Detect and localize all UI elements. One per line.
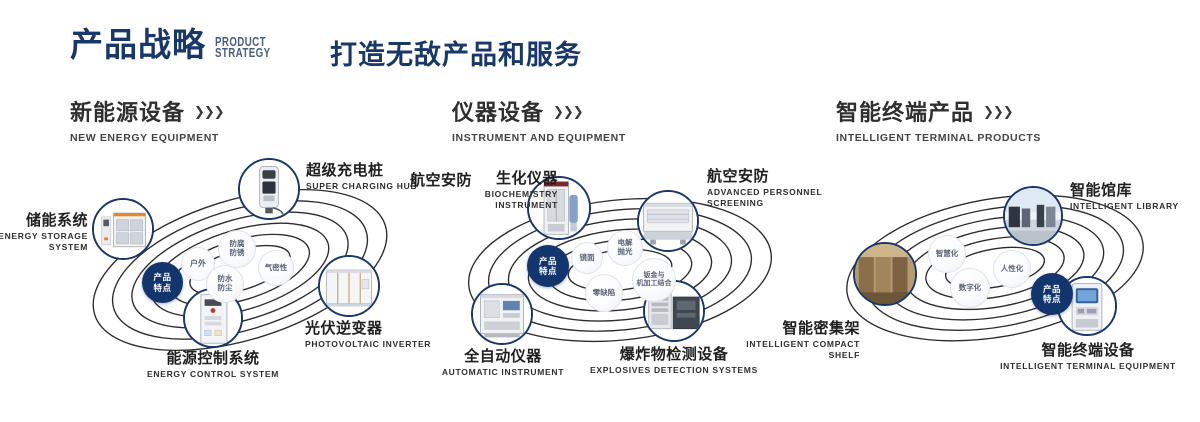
page-title-cn: 产品战略 [70, 28, 206, 61]
intelligent-library-photo [1005, 188, 1061, 244]
product-features-badge: 产品 特点 [142, 262, 183, 303]
node-label-cn: 光伏逆变器 [305, 320, 445, 337]
node-label-intelligent-compact-shelf: 智能密集架 INTELLIGENT COMPACT SHELF [740, 320, 860, 361]
product-features-badge: 产品 特点 [527, 245, 569, 287]
section-header-intelligent-terminal: 智能终端产品 ❯❯❯ INTELLIGENT TERMINAL PRODUCTS [836, 95, 1041, 144]
section-title-cn: 仪器设备 [452, 95, 544, 127]
node-label-en: ENERGY STORAGE SYSTEM [0, 231, 88, 252]
node-photovoltaic-inverter[interactable] [318, 255, 380, 317]
cluster-intelligent-terminal-products: 智能馆库 INTELLIGENT LIBRARY 智能终端设备 INTELLIG… [810, 150, 1180, 380]
node-label-en: BIOCHEMISTRY INSTRUMENT [393, 189, 558, 210]
node-intelligent-compact-shelf[interactable] [853, 242, 917, 306]
node-label-en: AUTOMATIC INSTRUMENT [413, 367, 593, 378]
node-advanced-personnel-screening[interactable] [637, 190, 699, 252]
energy-storage-cabinet-photo [94, 200, 152, 258]
feature-bubble-label: 防腐 防锈 [230, 240, 245, 257]
automatic-instrument-photo [473, 285, 531, 343]
feature-bubble-label: 气密性 [265, 264, 288, 273]
feature-bubble-label: 智慧化 [936, 250, 959, 259]
node-label-aviation-security-secondary: 航空安防 [410, 172, 480, 189]
node-label-energy-storage-system: 储能系统 ENERGY STORAGE SYSTEM [0, 212, 88, 253]
feature-bubble-label: 户外 [190, 259, 206, 268]
node-label-automatic-instrument: 全自动仪器 AUTOMATIC INSTRUMENT [413, 348, 593, 378]
node-label-intelligent-terminal-equipment: 智能终端设备 INTELLIGENT TERMINAL EQUIPMENT [998, 342, 1178, 372]
node-label-cn: 储能系统 [0, 212, 88, 229]
node-energy-storage-system[interactable] [92, 198, 154, 260]
feature-bubble: 防水 防尘 [206, 265, 244, 303]
node-label-en: INTELLIGENT LIBRARY [1070, 201, 1200, 212]
feature-bubble-label: 防水 防尘 [218, 275, 233, 292]
node-label-photovoltaic-inverter: 光伏逆变器 PHOTOVOLTAIC INVERTER [305, 320, 445, 350]
feature-bubble: 数字化 [950, 268, 990, 308]
charging-pile-photo [240, 160, 298, 218]
section-header-new-energy: 新能源设备 ❯❯❯ NEW ENERGY EQUIPMENT [70, 95, 224, 144]
node-label-cn: 智能密集架 [740, 320, 860, 337]
section-title-cn: 新能源设备 [70, 95, 185, 127]
node-label-cn: 能源控制系统 [83, 350, 343, 367]
feature-bubble-label: 电解 抛光 [618, 239, 633, 256]
feature-bubble: 防腐 防锈 [218, 230, 256, 268]
chevron-right-icon: ❯❯❯ [553, 105, 583, 118]
page-title: 产品战略 PRODUCT STRATEGY [70, 28, 286, 61]
node-label-en: INTELLIGENT TERMINAL EQUIPMENT [998, 361, 1178, 372]
feature-bubble: 电解 抛光 [607, 230, 643, 266]
feature-bubble-label: 人性化 [1001, 265, 1024, 274]
product-features-badge-label: 产品 特点 [539, 256, 557, 276]
product-features-badge-label: 产品 特点 [1043, 284, 1061, 304]
feature-bubble: 钣金与 机加工结合 [632, 258, 676, 302]
feature-bubble: 镜面 [571, 242, 603, 274]
node-automatic-instrument[interactable] [471, 283, 533, 345]
feature-bubble-label: 数字化 [959, 284, 982, 293]
product-features-badge-label: 产品 特点 [153, 272, 171, 292]
feature-bubble: 零缺陷 [585, 274, 623, 312]
cluster-new-energy-equipment: 储能系统 ENERGY STORAGE SYSTEM 超级充电桩 SUPER C… [55, 150, 425, 380]
feature-bubble: 智慧化 [928, 235, 966, 273]
node-label-cn: 智能馆库 [1070, 182, 1200, 199]
node-label-en: ENERGY CONTROL SYSTEM [83, 369, 343, 380]
section-title-en: INTELLIGENT TERMINAL PRODUCTS [836, 132, 1041, 144]
chevron-right-icon: ❯❯❯ [983, 105, 1013, 118]
section-title-cn: 智能终端产品 [836, 95, 974, 127]
node-label-en: EXPLOSIVES DETECTION SYSTEMS [574, 365, 774, 376]
section-title-en: INSTRUMENT AND EQUIPMENT [452, 132, 626, 144]
compact-shelf-photo [855, 244, 915, 304]
chevron-right-icon: ❯❯❯ [194, 105, 224, 118]
security-screening-machine-photo [639, 192, 697, 250]
section-header-instrument: 仪器设备 ❯❯❯ INSTRUMENT AND EQUIPMENT [452, 95, 626, 144]
feature-bubble: 气密性 [258, 250, 294, 286]
node-label-intelligent-library: 智能馆库 INTELLIGENT LIBRARY [1070, 182, 1200, 212]
node-intelligent-library[interactable] [1003, 186, 1063, 246]
section-title-en: NEW ENERGY EQUIPMENT [70, 132, 224, 144]
node-label-cn: 航空安防 [410, 172, 480, 189]
feature-bubble-label: 零缺陷 [593, 289, 616, 298]
node-label-en: INTELLIGENT COMPACT SHELF [740, 339, 860, 360]
product-features-badge: 产品 特点 [1031, 273, 1073, 315]
node-label-energy-control-system: 能源控制系统 ENERGY CONTROL SYSTEM [83, 350, 343, 380]
feature-bubble: 人性化 [993, 250, 1031, 288]
node-label-cn: 全自动仪器 [413, 348, 593, 365]
node-super-charging-hub[interactable] [238, 158, 300, 220]
product-strategy-infographic: 产品战略 PRODUCT STRATEGY 打造无敌产品和服务 新能源设备 ❯❯… [0, 0, 1200, 422]
node-label-cn: 智能终端设备 [998, 342, 1178, 359]
page-subtitle: 打造无敌产品和服务 [330, 33, 582, 72]
inverter-cabinet-photo [320, 257, 378, 315]
feature-bubble-label: 镜面 [580, 254, 595, 263]
feature-bubble-label: 钣金与 机加工结合 [637, 272, 672, 288]
page-title-en: PRODUCT STRATEGY [215, 37, 270, 59]
